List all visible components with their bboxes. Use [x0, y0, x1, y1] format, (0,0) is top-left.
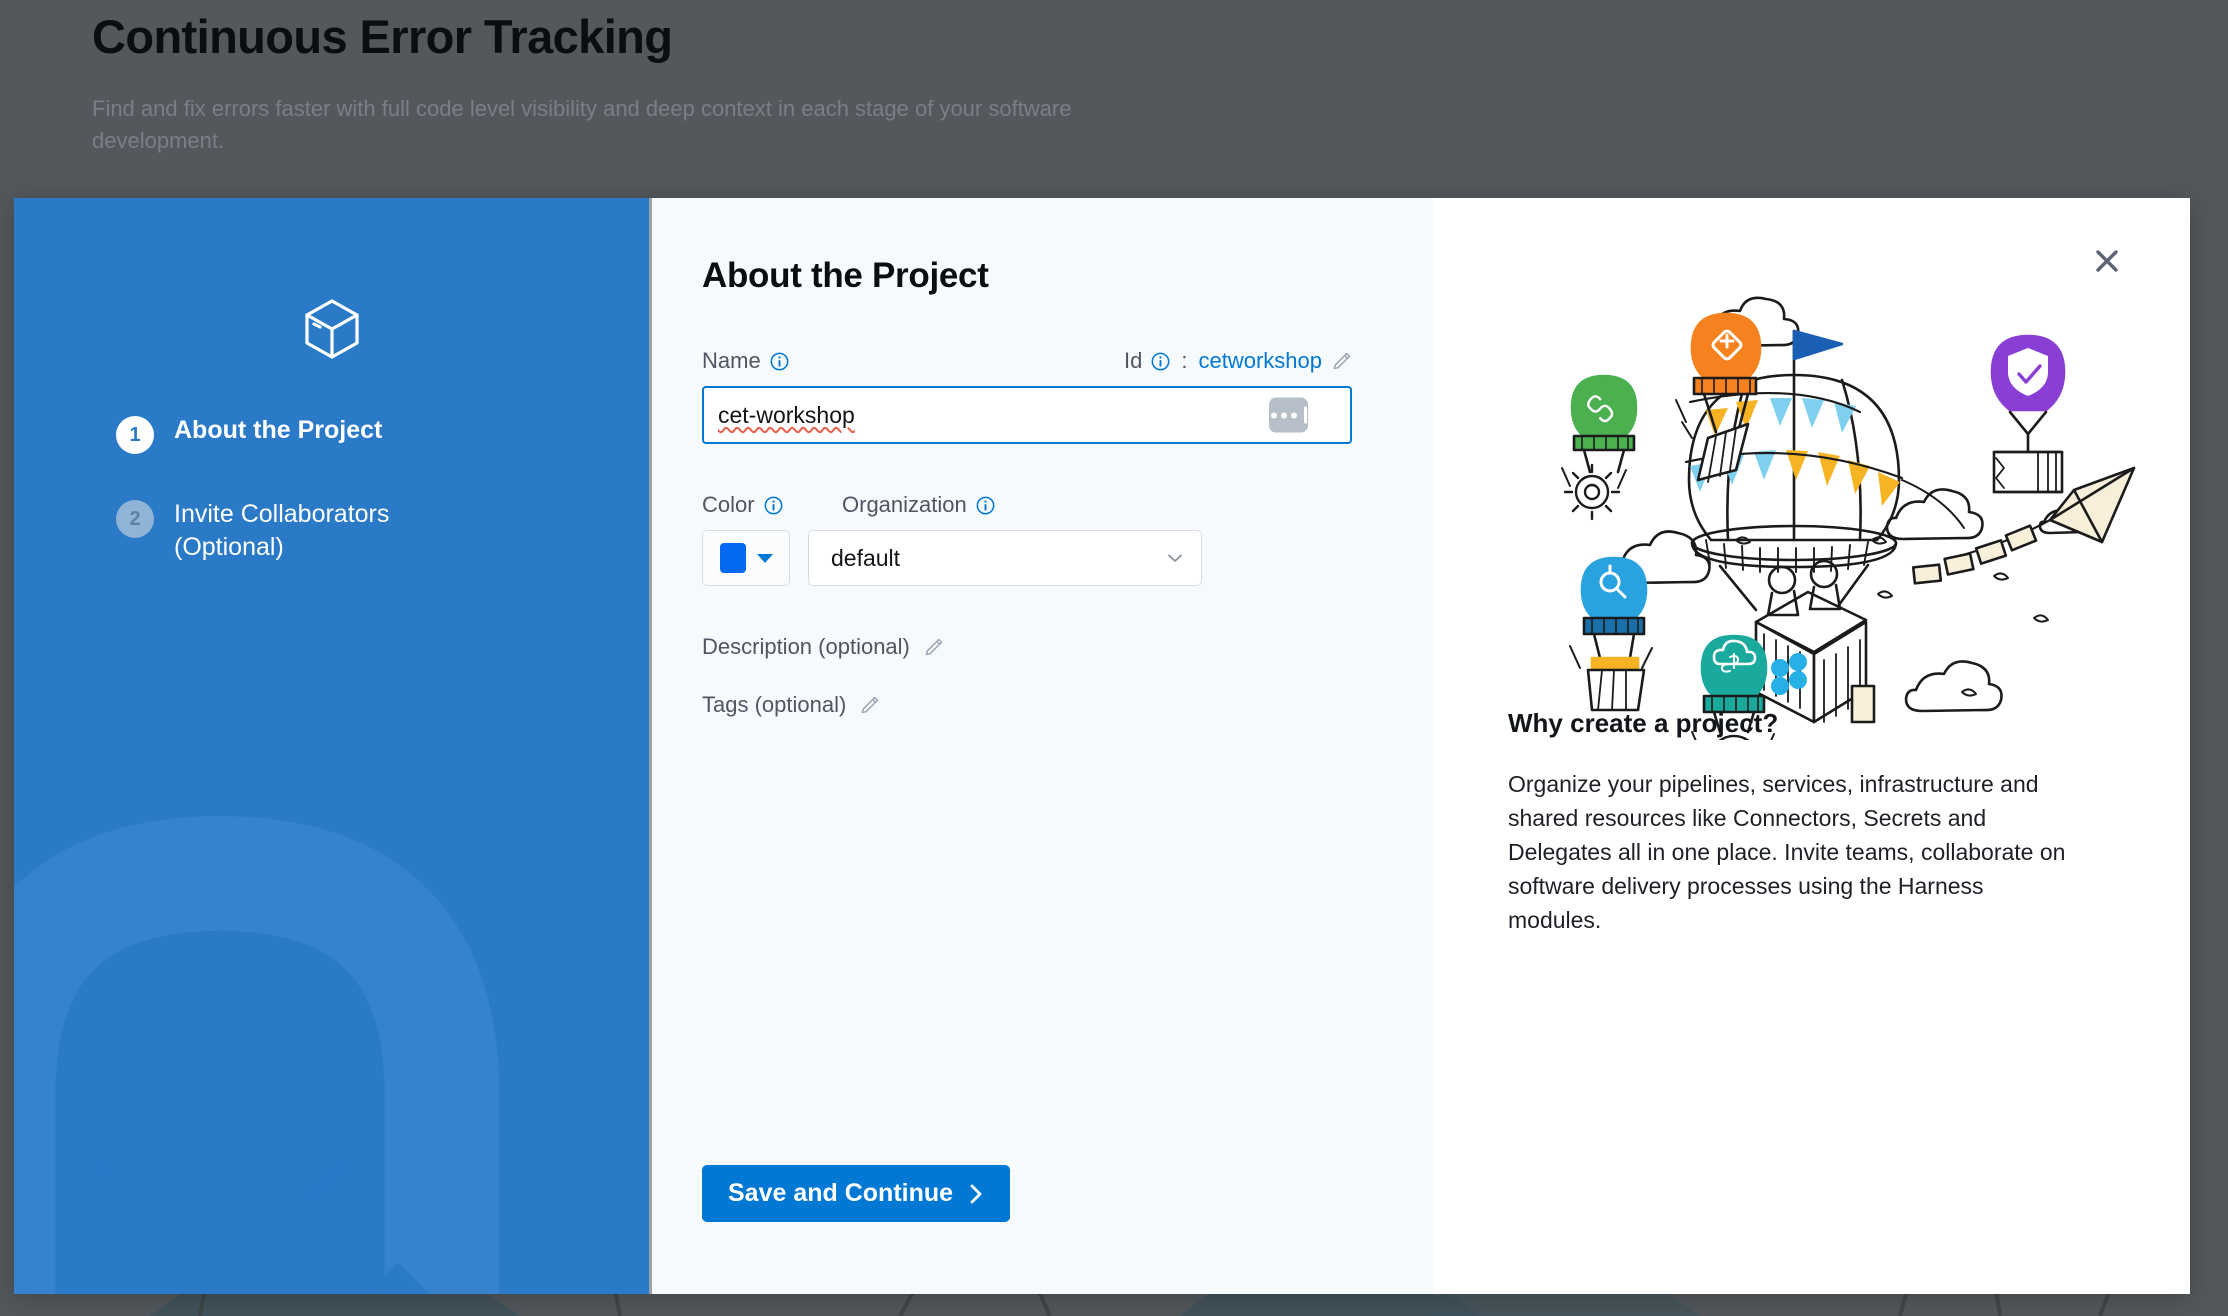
project-form-pane: About the Project Name Id : cetwo: [652, 198, 1434, 1294]
project-name-input[interactable]: cet-workshop: [702, 386, 1352, 444]
info-icon[interactable]: [1151, 352, 1170, 371]
save-and-continue-button[interactable]: Save and Continue: [702, 1165, 1010, 1222]
organization-label: Organization: [842, 492, 995, 518]
id-separator: :: [1181, 348, 1187, 374]
pencil-icon[interactable]: [923, 637, 944, 658]
pencil-icon[interactable]: [1331, 351, 1352, 372]
id-label: Id: [1124, 348, 1142, 374]
close-icon[interactable]: [2090, 244, 2124, 278]
step-label-2: Invite Collaborators (Optional): [174, 498, 504, 564]
dot: [1291, 412, 1297, 418]
project-id-block: Id : cetworkshop: [1124, 348, 1352, 374]
chevron-down-icon: [1165, 548, 1185, 568]
description-label: Description (optional): [702, 634, 910, 660]
info-panel: Why create a project? Organize your pipe…: [1434, 198, 2190, 1294]
organization-label-text: Organization: [842, 492, 967, 518]
color-swatch: [720, 543, 746, 573]
dot: [1271, 412, 1277, 418]
dot: [1281, 412, 1287, 418]
color-org-control-row: default: [702, 530, 1434, 586]
tags-label: Tags (optional): [702, 692, 846, 718]
description-field[interactable]: Description (optional): [702, 634, 1434, 660]
info-body: Organize your pipelines, services, infra…: [1508, 767, 2068, 937]
info-text-block: Why create a project? Organize your pipe…: [1508, 708, 2068, 937]
pencil-icon[interactable]: [859, 695, 880, 716]
info-icon[interactable]: [770, 352, 789, 371]
info-icon[interactable]: [764, 496, 783, 515]
sidebar-item-invite-collaborators[interactable]: 2 Invite Collaborators (Optional): [116, 498, 609, 564]
save-and-continue-label: Save and Continue: [728, 1179, 953, 1208]
color-picker[interactable]: [702, 530, 790, 586]
tags-field[interactable]: Tags (optional): [702, 692, 1434, 718]
sidebar-item-about-the-project[interactable]: 1 About the Project: [116, 414, 609, 454]
step-label-1: About the Project: [174, 414, 382, 447]
chevron-right-icon: [969, 1183, 984, 1205]
cube-icon: [303, 298, 361, 360]
name-label-text: Name: [702, 348, 761, 374]
step-number-2: 2: [116, 500, 154, 538]
form-title: About the Project: [702, 256, 1434, 296]
page-subtitle: Find and fix errors faster with full cod…: [92, 93, 1152, 158]
stepper-list: 1 About the Project 2 Invite Collaborato…: [116, 414, 609, 608]
info-icon[interactable]: [976, 496, 995, 515]
info-heading: Why create a project?: [1508, 708, 2068, 739]
color-org-label-row: Color Organization: [702, 492, 1434, 518]
color-label: Color: [702, 492, 842, 518]
project-name-value: cet-workshop: [718, 402, 855, 429]
page-header: Continuous Error Tracking Find and fix e…: [92, 0, 1292, 158]
hot-air-balloons-illustration: [1484, 290, 2144, 740]
step-number-1: 1: [116, 416, 154, 454]
project-cube-icon-wrapper: [14, 298, 649, 360]
color-label-text: Color: [702, 492, 755, 518]
organization-value: default: [831, 545, 900, 572]
caret-down-icon: [757, 554, 773, 563]
name-field-header: Name Id : cetworkshop: [702, 348, 1352, 374]
id-value[interactable]: cetworkshop: [1198, 348, 1322, 374]
create-project-modal: 1 About the Project 2 Invite Collaborato…: [14, 198, 2190, 1294]
harness-logo-watermark: [14, 744, 652, 1294]
page-title: Continuous Error Tracking: [92, 0, 1292, 67]
autofill-dots-icon[interactable]: [1269, 398, 1308, 433]
text-caret: [1304, 407, 1307, 424]
organization-select[interactable]: default: [808, 530, 1202, 586]
modal-stepper-panel: 1 About the Project 2 Invite Collaborato…: [14, 198, 652, 1294]
name-label: Name: [702, 348, 789, 374]
